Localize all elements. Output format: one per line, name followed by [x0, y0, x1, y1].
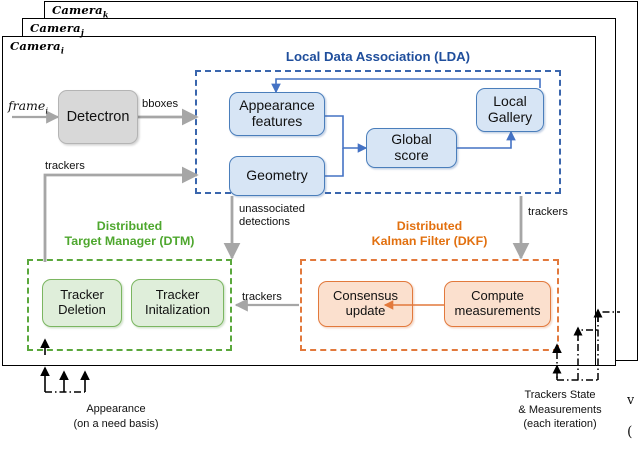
frame-input-label: framei [8, 99, 48, 117]
figure-canvas: s t a T c p v ( Camerak Cameraj Camerai … [0, 0, 640, 449]
trackers-to-lda-label: trackers [45, 160, 85, 173]
unassociated-detections-label: unassociated detections [239, 203, 305, 229]
appearance-annotation-line2: (on a need basis) [6, 417, 226, 432]
trackers-state-annotation-line1: Trackers State [495, 388, 625, 403]
external-connector-layer [0, 0, 640, 449]
unassociated-detections-label-line2: detections [239, 216, 305, 229]
frame-input-label-subscript: i [45, 107, 48, 117]
trackers-lda-to-dkf-label: trackers [528, 206, 568, 219]
bboxes-label: bboxes [142, 98, 178, 111]
trackers-dkf-to-dtm-label: trackers [242, 291, 282, 304]
unassociated-detections-label-line1: unassociated [239, 203, 305, 216]
trackers-state-annotation-line2: & Measurements [495, 403, 625, 418]
appearance-annotation: Appearance (on a need basis) [6, 402, 226, 431]
trackers-state-annotation-line3: (each iteration) [495, 417, 625, 432]
appearance-annotation-line1: Appearance [6, 402, 226, 417]
trackers-state-annotation: Trackers State & Measurements (each iter… [495, 388, 625, 432]
frame-input-label-text: frame [8, 98, 45, 113]
